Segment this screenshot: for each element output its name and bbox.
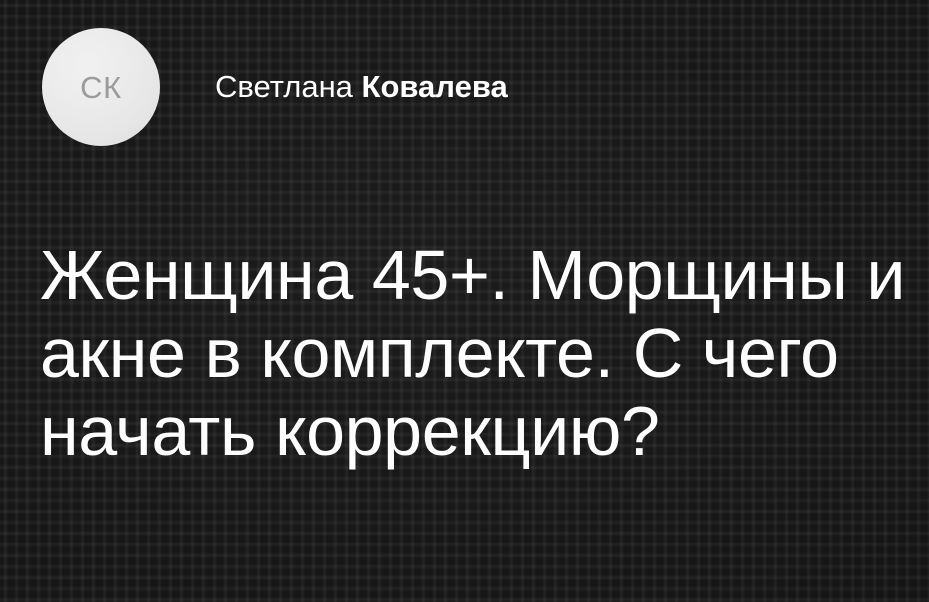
author-first-name: Светлана (215, 69, 362, 104)
avatar[interactable]: СК (42, 28, 160, 146)
author-row[interactable]: СК Светлана Ковалева (42, 28, 508, 146)
social-post-card: СК Светлана Ковалева Женщина 45+. Морщин… (0, 0, 929, 602)
author-last-name: Ковалева (362, 69, 508, 104)
headline-line-3: начать коррекцию? (40, 392, 880, 470)
headline-line-1: Женщина 45+. Морщины и (40, 236, 880, 314)
author-name[interactable]: Светлана Ковалева (215, 69, 508, 105)
headline-line-2: акне в комплекте. С чего (40, 314, 880, 392)
headline: Женщина 45+. Морщины и акне в комплекте.… (40, 236, 880, 470)
avatar-initials: СК (80, 72, 122, 103)
